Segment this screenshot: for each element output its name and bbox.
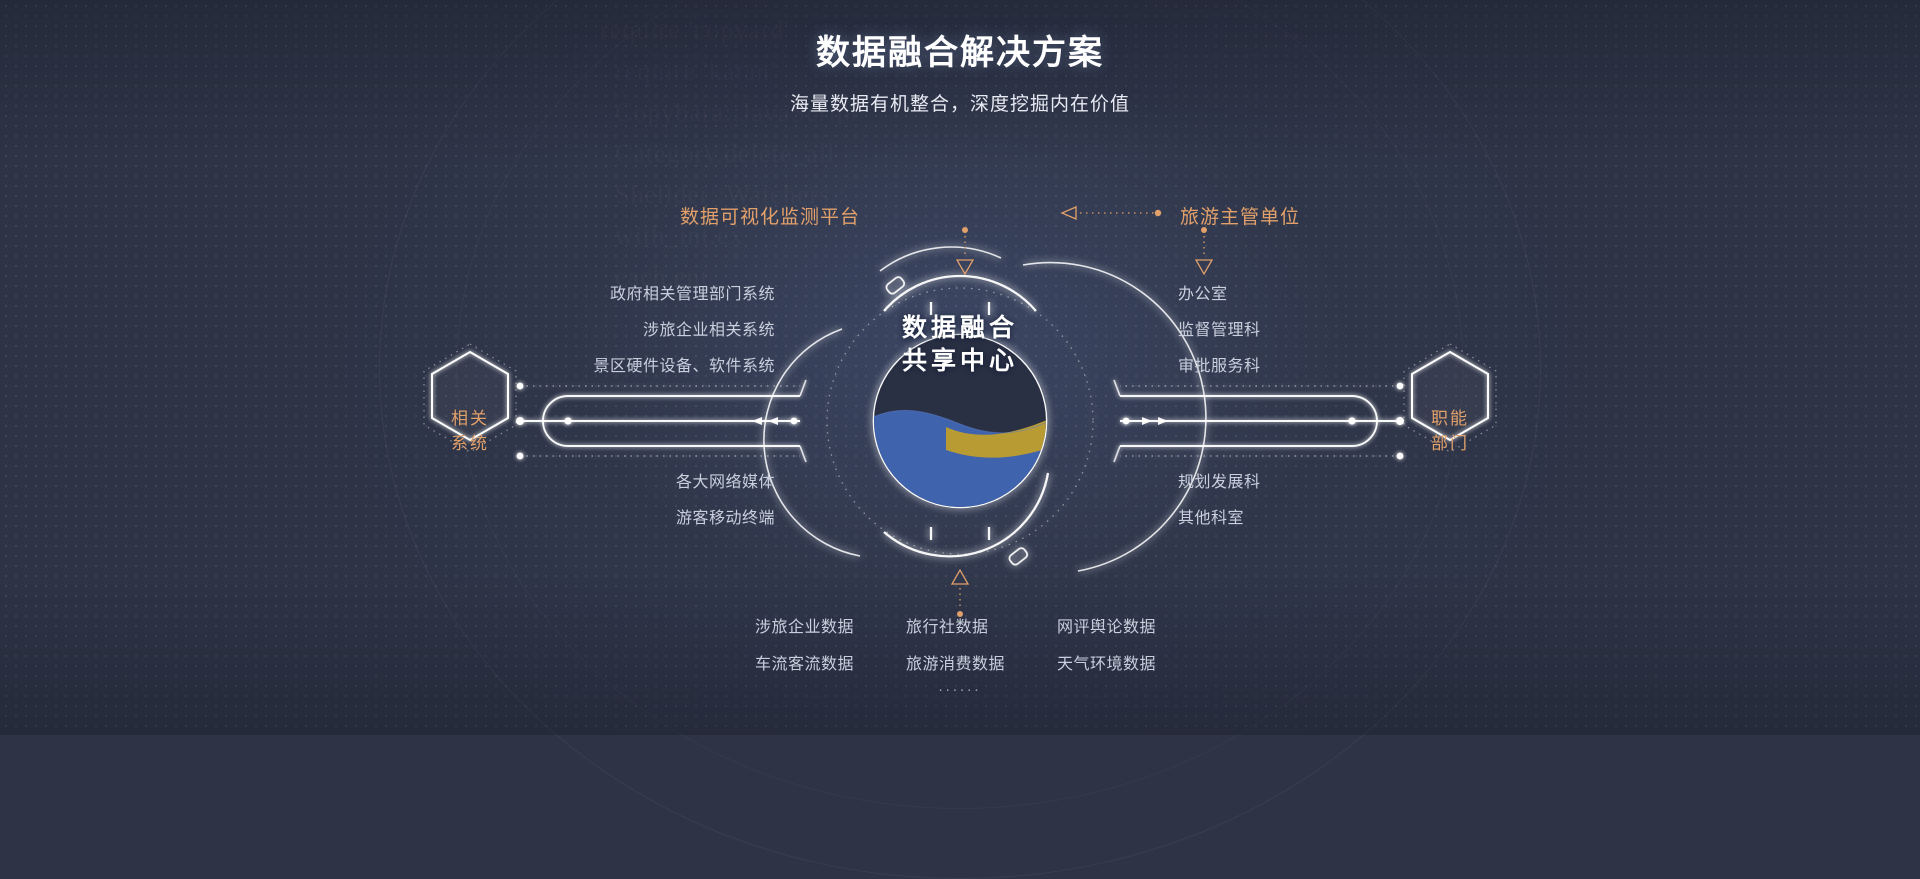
bottom-item-online-review-data[interactable]: 网评舆论数据: [1057, 613, 1156, 637]
right-item-office[interactable]: 办公室: [1178, 280, 1228, 304]
top-arrow-head-left: [1062, 207, 1076, 219]
bottom-ellipsis: ......: [0, 678, 1920, 695]
top-arrow-dot-right: [1155, 210, 1161, 216]
hexagon-right-label: 职能 部门: [1405, 406, 1495, 456]
bottom-item-traffic-flow-data[interactable]: 车流客流数据: [755, 650, 854, 674]
page-subtitle: 海量数据有机整合，深度挖掘内在价值: [0, 89, 1920, 116]
globe-graphic: [860, 330, 1056, 520]
left-item-enterprise-systems[interactable]: 涉旅企业相关系统: [643, 316, 775, 340]
right-item-other-depts[interactable]: 其他科室: [1178, 504, 1244, 528]
hexagon-left-label: 相关 系统: [425, 406, 515, 456]
bottom-item-enterprise-data[interactable]: 涉旅企业数据: [755, 613, 854, 637]
right-item-planning-dept[interactable]: 规划发展科: [1178, 468, 1261, 492]
left-vertical-arrow: [957, 227, 973, 274]
left-item-network-media[interactable]: 各大网络媒体: [676, 468, 775, 492]
bottom-vertical-arrow: [952, 570, 968, 617]
label-tourism-authority[interactable]: 旅游主管单位: [1180, 202, 1300, 229]
hexagon-right-line1: 职能: [1405, 406, 1495, 431]
left-connector: [520, 380, 806, 462]
right-item-supervision-dept[interactable]: 监督管理科: [1178, 316, 1261, 340]
hexagon-left-line1: 相关: [425, 406, 515, 431]
header: 数据融合解决方案 海量数据有机整合，深度挖掘内在价值: [0, 32, 1920, 116]
right-vertical-arrow: [1196, 227, 1212, 274]
left-item-scenic-hardware-software[interactable]: 景区硬件设备、软件系统: [593, 352, 775, 376]
right-connector: [1114, 380, 1400, 462]
hexagon-left-line2: 系统: [425, 431, 515, 456]
left-item-tourist-mobile-terminal[interactable]: 游客移动终端: [676, 504, 775, 528]
bottom-item-travel-agency-data[interactable]: 旅行社数据: [906, 613, 989, 637]
bottom-item-tourism-consumption-data[interactable]: 旅游消费数据: [906, 650, 1005, 674]
hexagon-right-line2: 部门: [1405, 431, 1495, 456]
label-visualization-platform[interactable]: 数据可视化监测平台: [680, 202, 860, 229]
left-item-gov-systems[interactable]: 政府相关管理部门系统: [610, 280, 775, 304]
right-item-approval-service-dept[interactable]: 审批服务科: [1178, 352, 1261, 376]
page-title: 数据融合解决方案: [0, 32, 1920, 75]
bottom-item-weather-environment-data[interactable]: 天气环境数据: [1057, 650, 1156, 674]
